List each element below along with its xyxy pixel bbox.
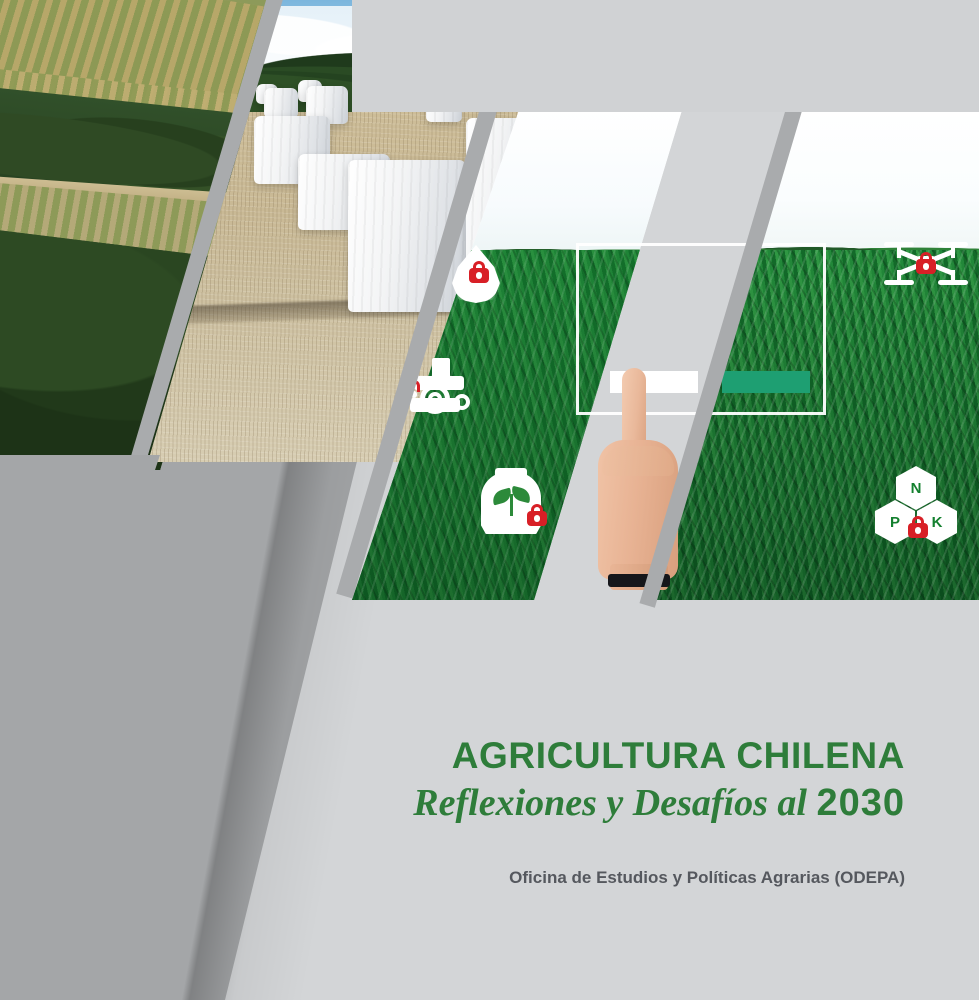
book-cover: N P K AGRICULTURA CHILENA Reflexiones	[0, 0, 979, 1000]
pointing-hand	[592, 368, 684, 600]
page-title: AGRICULTURA CHILENA	[185, 736, 905, 777]
water-drop-icon	[452, 245, 500, 303]
npk-hex-nitrogen: N	[896, 466, 936, 510]
drone-rotor-1	[884, 242, 914, 247]
drone-rotor-3	[884, 280, 914, 285]
drone-post-1	[897, 246, 901, 258]
hand-knuckles	[602, 446, 674, 476]
padlock-icon	[908, 516, 928, 538]
padlock-keyhole	[476, 272, 482, 279]
subtitle-text: Reflexiones y Desafíos al	[413, 782, 816, 824]
padlock-body	[410, 398, 460, 412]
sprout-stem	[510, 494, 513, 516]
page-subtitle: Reflexiones y Desafíos al 2030	[185, 783, 905, 825]
drone-rotor-4	[938, 280, 968, 285]
top-center-gray-band	[352, 0, 682, 112]
tractor-cab	[432, 358, 450, 378]
padlock-keyhole	[915, 527, 921, 534]
padlock-icon	[527, 504, 547, 526]
top-right-gray-band	[655, 0, 979, 112]
hay-bale	[264, 88, 298, 118]
organization-line: Oficina de Estudios y Políticas Agrarias…	[185, 868, 905, 888]
drone-icon	[886, 238, 966, 294]
photo-collage-band: N P K	[0, 0, 979, 600]
hud-bar-teal	[722, 371, 810, 393]
subtitle-year: 2030	[816, 782, 905, 824]
padlock-keyhole	[534, 515, 540, 522]
padlock-icon	[916, 252, 936, 274]
padlock-keyhole	[923, 263, 929, 270]
seed-bag-icon	[475, 468, 549, 540]
drone-rotor-2	[938, 242, 968, 247]
drone-post-2	[951, 246, 955, 258]
title-block: AGRICULTURA CHILENA Reflexiones y Desafí…	[185, 736, 905, 888]
padlock-icon	[469, 261, 489, 283]
npk-hexagon-icon: N P K	[874, 466, 956, 548]
